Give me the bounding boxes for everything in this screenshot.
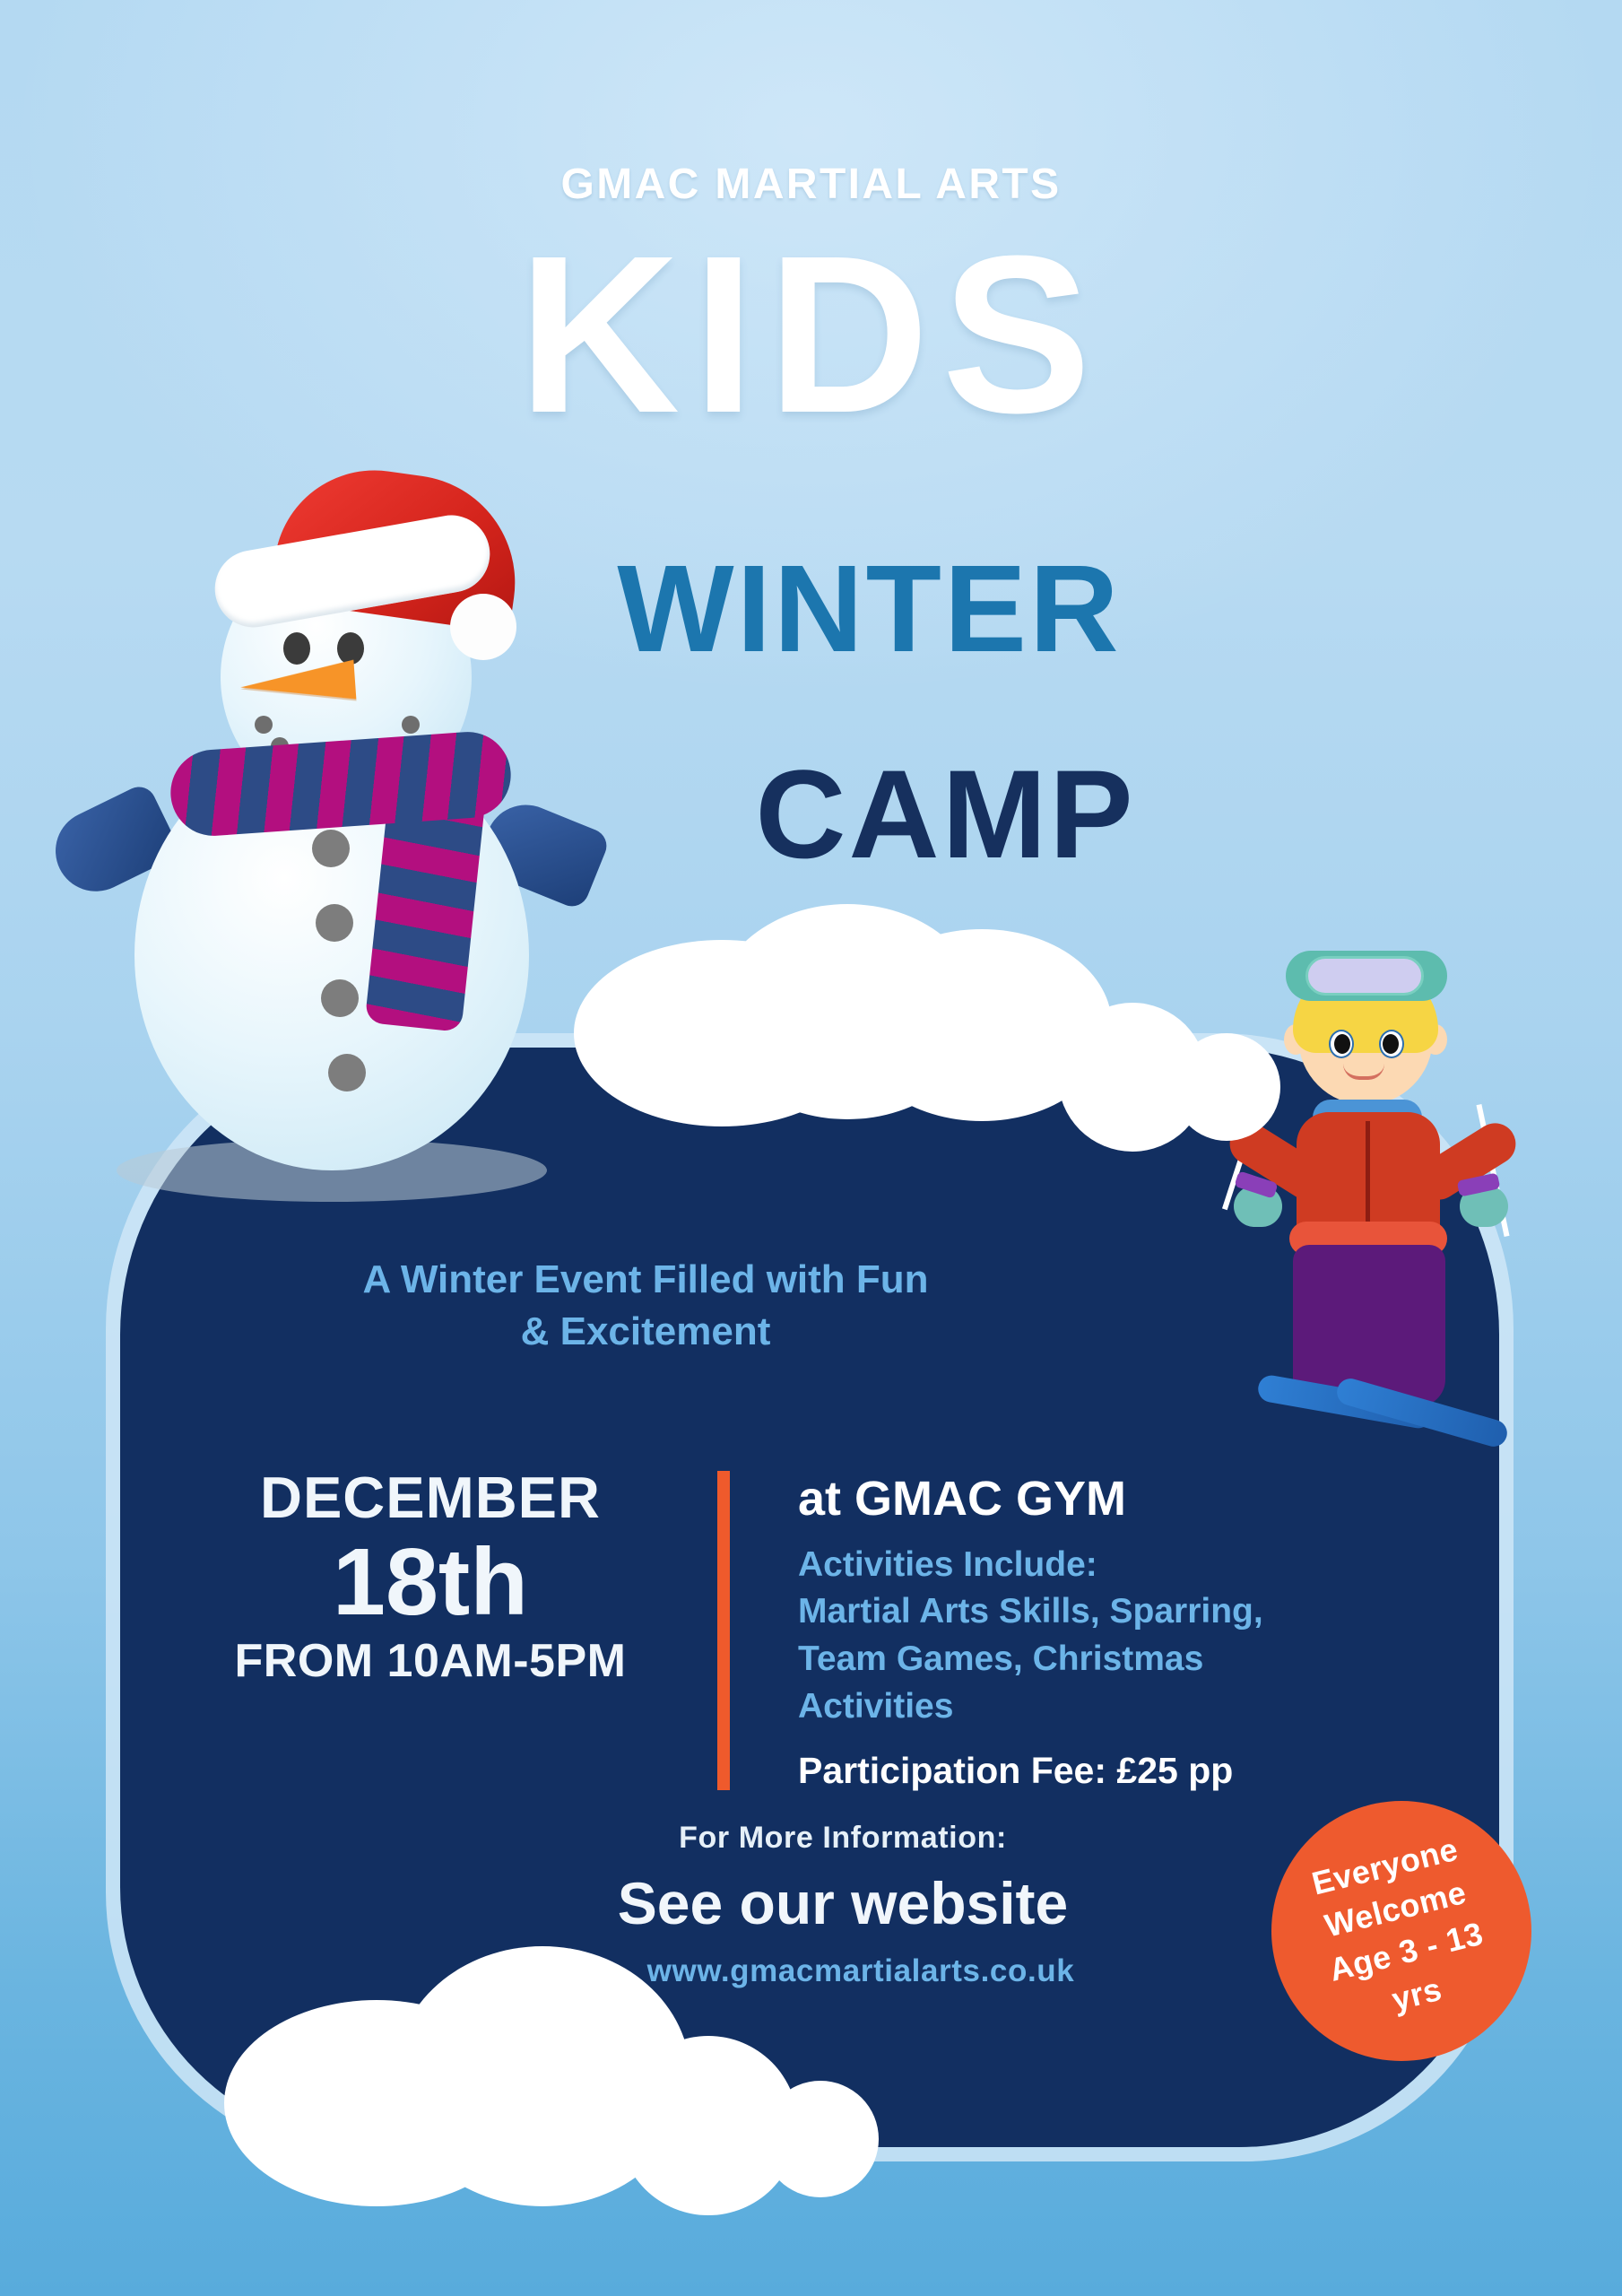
activities-list: Activities Include: Martial Arts Skills,… — [798, 1542, 1390, 1731]
snowman-mouth-dot — [255, 716, 273, 734]
event-month: DECEMBER — [179, 1467, 681, 1529]
snow-blob — [1173, 1033, 1280, 1141]
skier-pants — [1293, 1245, 1445, 1406]
venue-block: at GMAC GYM Activities Include: Martial … — [798, 1471, 1390, 1792]
event-date-block: DECEMBER 18th FROM 10AM-5PM — [179, 1467, 681, 1687]
snowman-button — [316, 904, 353, 942]
participation-fee: Participation Fee: £25 pp — [798, 1750, 1390, 1792]
subtitle-line-2: & Excitement — [143, 1306, 1148, 1358]
skier-jacket-zip — [1366, 1121, 1370, 1229]
subtitle-line-1: A Winter Event Filled with Fun — [143, 1254, 1148, 1306]
snow-blob — [762, 2081, 879, 2197]
poster-canvas: GMAC MARTIAL ARTS KIDS WINTER CAMP — [0, 0, 1622, 2296]
status-badge: Everyone Welcome Age 3 - 13 yrs — [1271, 1801, 1531, 2061]
ski-goggles-lens — [1305, 956, 1424, 996]
event-day: 18th — [179, 1529, 681, 1636]
carrot-nose-icon — [239, 660, 357, 708]
title-kids: KIDS — [0, 222, 1622, 447]
more-info-label: For More Information: — [502, 1821, 1184, 1856]
snowman-eye — [283, 632, 310, 665]
activities-label: Activities Include: — [798, 1542, 1390, 1589]
activities-line-2: Team Games, Christmas — [798, 1636, 1390, 1683]
vertical-divider — [717, 1471, 730, 1790]
snowman-button — [328, 1054, 366, 1091]
website-url[interactable]: www.gmacmartialarts.co.uk — [502, 1953, 1219, 1989]
santa-hat-pompom — [450, 594, 516, 660]
event-time: FROM 10AM-5PM — [179, 1636, 681, 1687]
website-cta[interactable]: See our website — [430, 1869, 1255, 1937]
activities-line-1: Martial Arts Skills, Sparring, — [798, 1588, 1390, 1636]
brand-name: GMAC MARTIAL ARTS — [0, 160, 1622, 209]
subtitle: A Winter Event Filled with Fun & Excitem… — [143, 1254, 1148, 1358]
venue-title: at GMAC GYM — [798, 1471, 1390, 1527]
scarf-icon — [170, 741, 511, 848]
skier-pupil — [1383, 1034, 1399, 1054]
skier-icon — [1228, 933, 1524, 1435]
snowman-icon — [63, 475, 619, 1220]
snow-cloud-icon — [556, 897, 1219, 1112]
skier-pupil — [1334, 1034, 1350, 1054]
badge-text: Everyone Welcome Age 3 - 13 yrs — [1304, 1827, 1498, 2035]
snowman-button — [321, 979, 359, 1017]
activities-line-3: Activities — [798, 1683, 1390, 1731]
snowman-mouth-dot — [402, 716, 420, 734]
